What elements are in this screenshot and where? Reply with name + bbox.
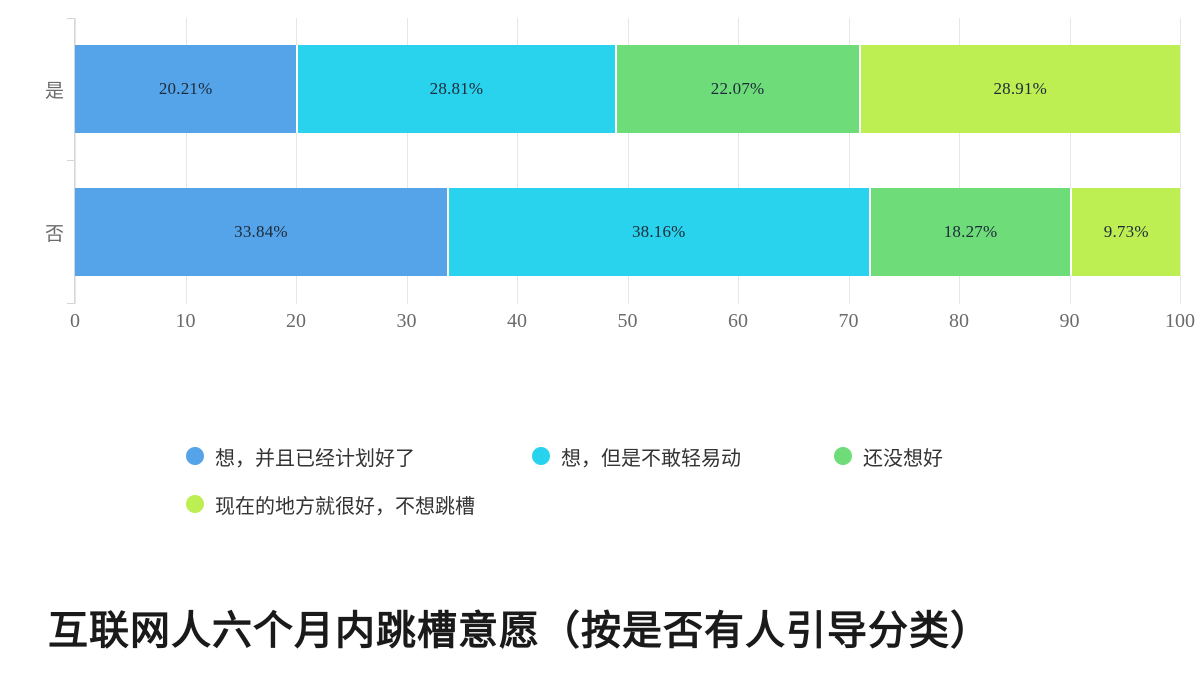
plot-area: 20.21%28.81%22.07%28.91%33.84%38.16%18.2…	[75, 18, 1180, 304]
x-tick-label: 30	[397, 310, 417, 333]
legend-row: 现在的地方就很好，不想跳槽	[186, 480, 1086, 528]
y-tick	[67, 303, 75, 304]
bar-segment: 9.73%	[1072, 188, 1180, 276]
legend-row: 想，并且已经计划好了想，但是不敢轻易动还没想好	[186, 432, 1086, 480]
chart-title: 互联网人六个月内跳槽意愿（按是否有人引导分类）	[48, 598, 991, 656]
x-tick-label: 90	[1060, 310, 1080, 333]
bar-segment-value-label: 38.16%	[632, 222, 686, 242]
x-tick-label: 50	[618, 310, 638, 333]
bar-segment-value-label: 28.81%	[430, 79, 484, 99]
bar-segment: 22.07%	[617, 45, 861, 133]
bar-row: 33.84%38.16%18.27%9.73%	[75, 188, 1180, 276]
bar-segment: 28.91%	[861, 45, 1180, 133]
x-tick-label: 40	[507, 310, 527, 333]
bar-segment-value-label: 22.07%	[711, 79, 765, 99]
chart-figure: 是否 20.21%28.81%22.07%28.91%33.84%38.16%1…	[0, 0, 1200, 692]
bar-segment: 38.16%	[449, 188, 871, 276]
legend-label: 现在的地方就很好，不想跳槽	[215, 490, 475, 519]
legend-color-swatch-icon	[834, 447, 852, 465]
y-tick	[67, 160, 75, 161]
legend-item[interactable]: 现在的地方就很好，不想跳槽	[186, 490, 475, 519]
legend-label: 还没想好	[863, 442, 943, 471]
bar-segment: 33.84%	[75, 188, 449, 276]
bar-segment-value-label: 28.91%	[993, 79, 1047, 99]
legend-color-swatch-icon	[186, 495, 204, 513]
x-tick-label: 100	[1165, 310, 1195, 333]
x-tick-label: 0	[70, 310, 80, 333]
legend-item[interactable]: 想，但是不敢轻易动	[532, 442, 741, 471]
bar-segment-value-label: 9.73%	[1104, 222, 1149, 242]
x-tick-label: 60	[728, 310, 748, 333]
x-tick-label: 70	[839, 310, 859, 333]
legend-item[interactable]: 想，并且已经计划好了	[186, 442, 415, 471]
bar-segment-value-label: 18.27%	[944, 222, 998, 242]
legend-color-swatch-icon	[186, 447, 204, 465]
legend-label: 想，并且已经计划好了	[215, 442, 415, 471]
legend-color-swatch-icon	[532, 447, 550, 465]
legend-item[interactable]: 还没想好	[834, 442, 943, 471]
x-tick-label: 10	[176, 310, 196, 333]
gridline	[1180, 18, 1181, 304]
legend-label: 想，但是不敢轻易动	[561, 442, 741, 471]
bar-segment: 18.27%	[871, 188, 1073, 276]
bar-segment-value-label: 33.84%	[234, 222, 288, 242]
chart-legend: 想，并且已经计划好了想，但是不敢轻易动还没想好现在的地方就很好，不想跳槽	[186, 432, 1086, 528]
bar-row: 20.21%28.81%22.07%28.91%	[75, 45, 1180, 133]
bar-segment: 20.21%	[75, 45, 298, 133]
y-category-label: 否	[10, 219, 64, 246]
bar-segment-value-label: 20.21%	[159, 79, 213, 99]
bar-segment: 28.81%	[298, 45, 616, 133]
x-tick-label: 20	[286, 310, 306, 333]
x-tick-label: 80	[949, 310, 969, 333]
y-category-label: 是	[10, 76, 64, 103]
y-tick	[67, 18, 75, 19]
